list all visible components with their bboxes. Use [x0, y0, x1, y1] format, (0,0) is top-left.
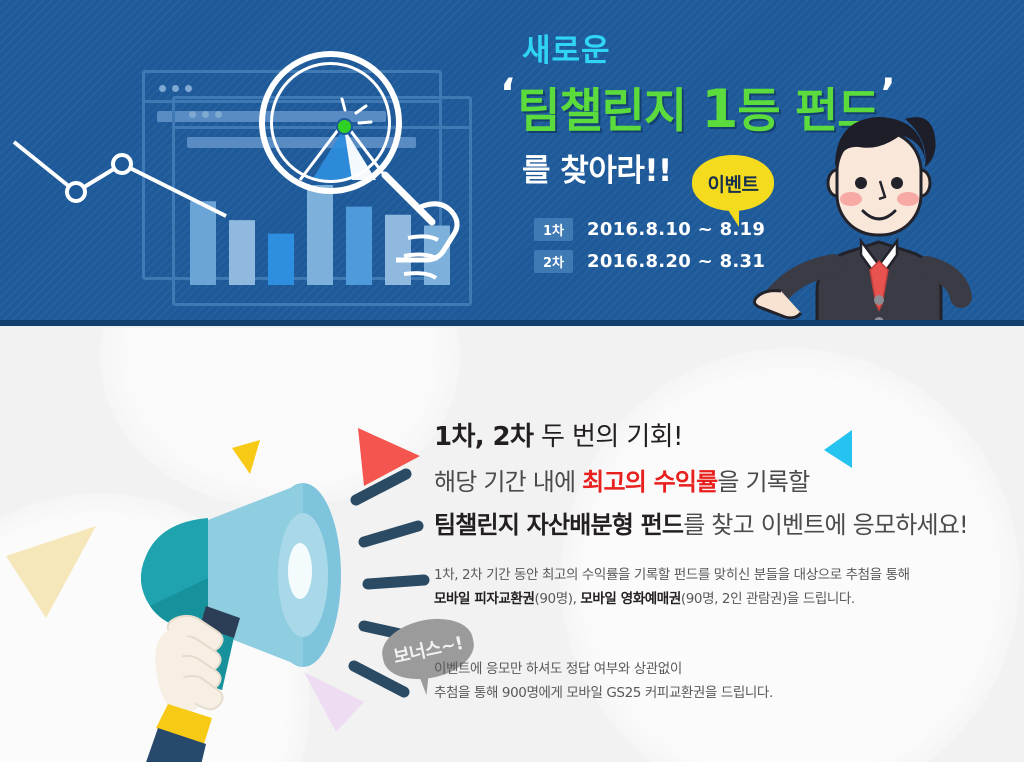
triangle-cream [6, 526, 96, 618]
green-highlight-dot [338, 120, 351, 133]
period-chip: 1차 [534, 218, 573, 241]
copy-line-two: 해당 기간 내에 최고의 수익률을 기록할 [434, 462, 994, 497]
triangle-red [358, 428, 420, 486]
prize-mid-a: (90명), [534, 591, 580, 607]
prize-bold-a: 모바일 피자교환권 [434, 591, 534, 607]
bottom-copy-block: 1차, 2차 두 번의 기회! 해당 기간 내에 최고의 수익률을 기록할 팀챌… [434, 416, 994, 540]
chart-bar [190, 201, 216, 285]
chart-bar [229, 220, 255, 285]
bonus-line1: 이벤트에 응모만 하셔도 정답 여부와 상관없이 [434, 658, 954, 682]
quote-open: ‘ [500, 78, 515, 110]
headline-title-part1: 팀챌린지 [517, 84, 701, 139]
chart-line-marker [67, 183, 85, 201]
prize-detail-line2: 모바일 피자교환권(90명), 모바일 영화예매권(90명, 2인 관람권)을 … [434, 588, 974, 612]
copy-line-three: 팀챌린지 자산배분형 펀드를 찾고 이벤트에 응모하세요! [434, 505, 994, 540]
triangle-purple [304, 672, 364, 732]
period-range: 2016.8.20 ~ 8.31 [587, 251, 765, 272]
open-hand-icon [754, 291, 801, 318]
magnifier-ring-inner [270, 62, 391, 183]
panel-divider [0, 320, 1024, 326]
promo-banner: 새로운 ‘ 팀챌린지 1등 펀드 ’ 를 찾아라!! 이벤트 1차 2016.8… [0, 0, 1024, 762]
hand-finger [408, 236, 438, 240]
event-period-list: 1차 2016.8.10 ~ 8.19 2차 2016.8.20 ~ 8.31 [534, 218, 765, 282]
headline-title-number: 1 [702, 79, 738, 140]
period-chip: 2차 [534, 250, 573, 273]
copy-lead-bold: 1차, 2차 [434, 422, 533, 452]
top-blue-panel: 새로운 ‘ 팀챌린지 1등 펀드 ’ 를 찾아라!! 이벤트 1차 2016.8… [0, 0, 1024, 326]
prize-detail-block: 1차, 2차 기간 동안 최고의 수익률을 기록할 펀드를 맞히신 분들을 대상… [434, 564, 974, 611]
bottom-white-panel: 1차, 2차 두 번의 기회! 해당 기간 내에 최고의 수익률을 기록할 팀챌… [0, 328, 1024, 762]
suit-button [874, 295, 884, 305]
chart-bar [307, 185, 333, 285]
bonus-detail-block: 이벤트에 응모만 하셔도 정답 여부와 상관없이 추첨을 통해 900명에게 모… [434, 658, 954, 705]
prize-bold-b: 모바일 영화예매권 [580, 591, 680, 607]
triangle-yellow [232, 440, 260, 474]
chart-bar [268, 234, 294, 285]
copy-line3-bold: 팀챌린지 자산배분형 펀드 [434, 511, 683, 539]
bar-chart-graphic [0, 0, 470, 326]
bonus-line2: 추첨을 통해 900명에게 모바일 GS25 커피교환권을 드립니다. [434, 682, 954, 706]
headline-subtitle: 를 찾아라!! [522, 145, 672, 190]
chart-line-marker [113, 155, 131, 173]
eye-right [891, 177, 903, 189]
businessman-illustration [745, 95, 1024, 326]
prize-detail-line1: 1차, 2차 기간 동안 최고의 수익률을 기록할 펀드를 맞히신 분들을 대상… [434, 564, 974, 588]
copy-line2-post: 을 기록할 [717, 468, 809, 496]
cheek-left [840, 192, 862, 206]
copy-lead-line: 1차, 2차 두 번의 기회! [434, 416, 994, 453]
event-period-row: 1차 2016.8.10 ~ 8.19 [534, 218, 765, 241]
chart-bar [346, 207, 372, 285]
eye-left [855, 177, 867, 189]
copy-line3-rest: 를 찾고 이벤트에 응모하세요! [683, 511, 968, 539]
cheek-right [897, 192, 919, 206]
period-range: 2016.8.10 ~ 8.19 [587, 219, 765, 240]
chart-magnifier-illustration [0, 0, 470, 326]
headline-eyebrow: 새로운 [522, 34, 910, 68]
copy-lead-rest: 두 번의 기회! [533, 422, 682, 452]
event-period-row: 2차 2016.8.20 ~ 8.31 [534, 250, 765, 273]
copy-line2-highlight: 최고의 수익률 [582, 468, 717, 496]
prize-rest: (90명, 2인 관람권)을 드립니다. [681, 591, 855, 607]
copy-line2-pre: 해당 기간 내에 [434, 468, 582, 496]
